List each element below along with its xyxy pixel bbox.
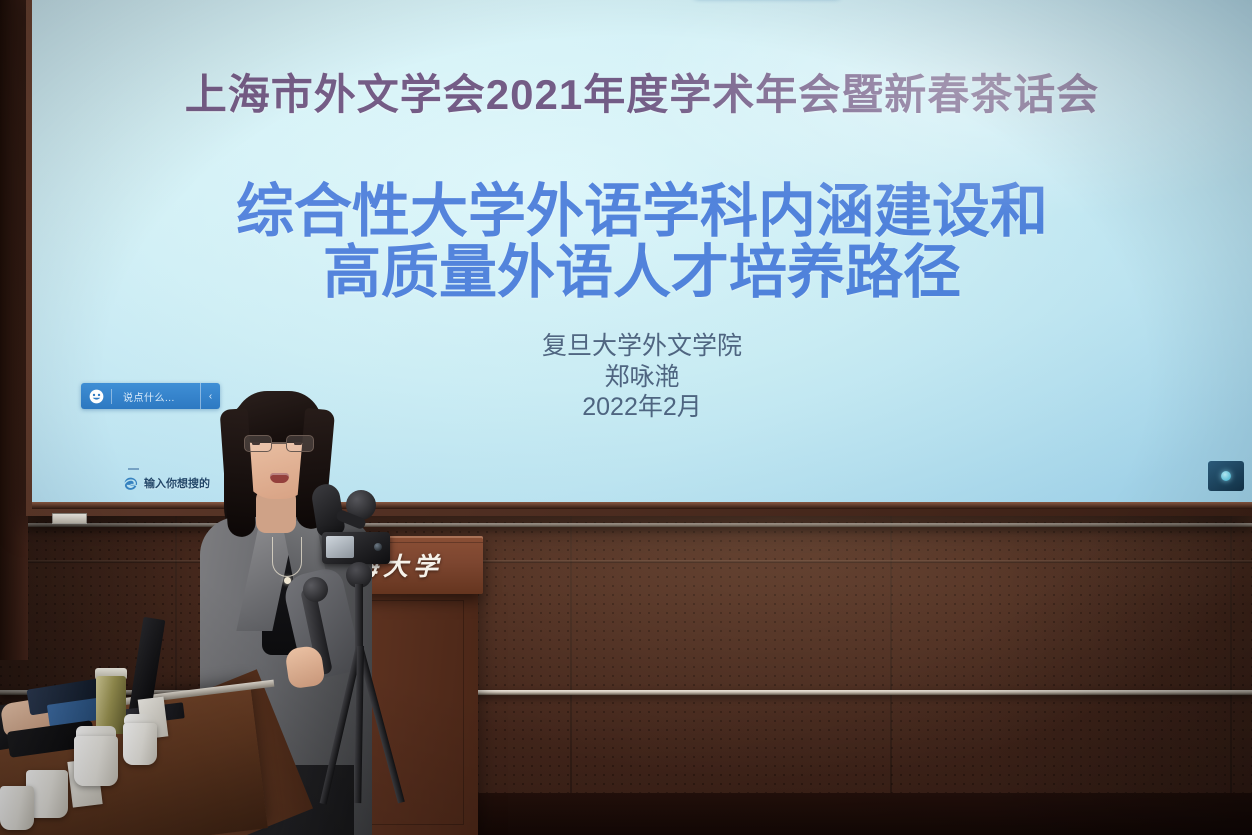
slide-title-line-2: 高质量外语人才培养路径 xyxy=(32,242,1252,303)
smartphone-on-tripod xyxy=(322,532,390,564)
speaker-necklace xyxy=(272,537,302,577)
teacup xyxy=(123,723,157,765)
slide-title: 综合性大学外语学科内涵建设和 高质量外语人才培养路径 xyxy=(32,181,1252,304)
teacup xyxy=(74,736,118,786)
smartphone-camera-lens-icon xyxy=(374,543,382,551)
microphone-indicator-icon xyxy=(1208,461,1244,491)
camera-tripod-rig xyxy=(300,470,430,835)
slide-title-line-1: 综合性大学外语学科内涵建设和 xyxy=(32,181,1252,242)
speaker-mouth xyxy=(270,473,289,483)
search-caret-marker xyxy=(128,468,139,470)
slide-header-text: 上海市外文学会2021年度学术年会暨新春茶话会 xyxy=(32,61,1252,122)
eyeglass-lens-left xyxy=(244,435,272,452)
smartphone-screen xyxy=(326,536,354,558)
slide-affiliation: 复旦大学外文学院 xyxy=(32,331,1252,362)
teacup xyxy=(0,786,34,830)
left-wall-pillar xyxy=(0,0,28,660)
presentation-photo-scene: 上海市外文学会2021年度学术年会暨新春茶话会 综合性大学外语学科内涵建设和 高… xyxy=(0,0,1252,835)
eyeglass-bridge xyxy=(272,442,286,444)
screen-wall-plate xyxy=(52,513,87,524)
tripod-leg xyxy=(354,646,364,803)
indicator-light xyxy=(1221,471,1231,481)
smiley-face-icon[interactable] xyxy=(81,383,111,409)
internet-explorer-icon[interactable] xyxy=(122,475,139,492)
chat-placeholder-text[interactable]: 说点什么... xyxy=(112,389,200,404)
eyeglass-lens-right xyxy=(286,435,314,452)
eyeglasses-icon xyxy=(244,435,314,452)
